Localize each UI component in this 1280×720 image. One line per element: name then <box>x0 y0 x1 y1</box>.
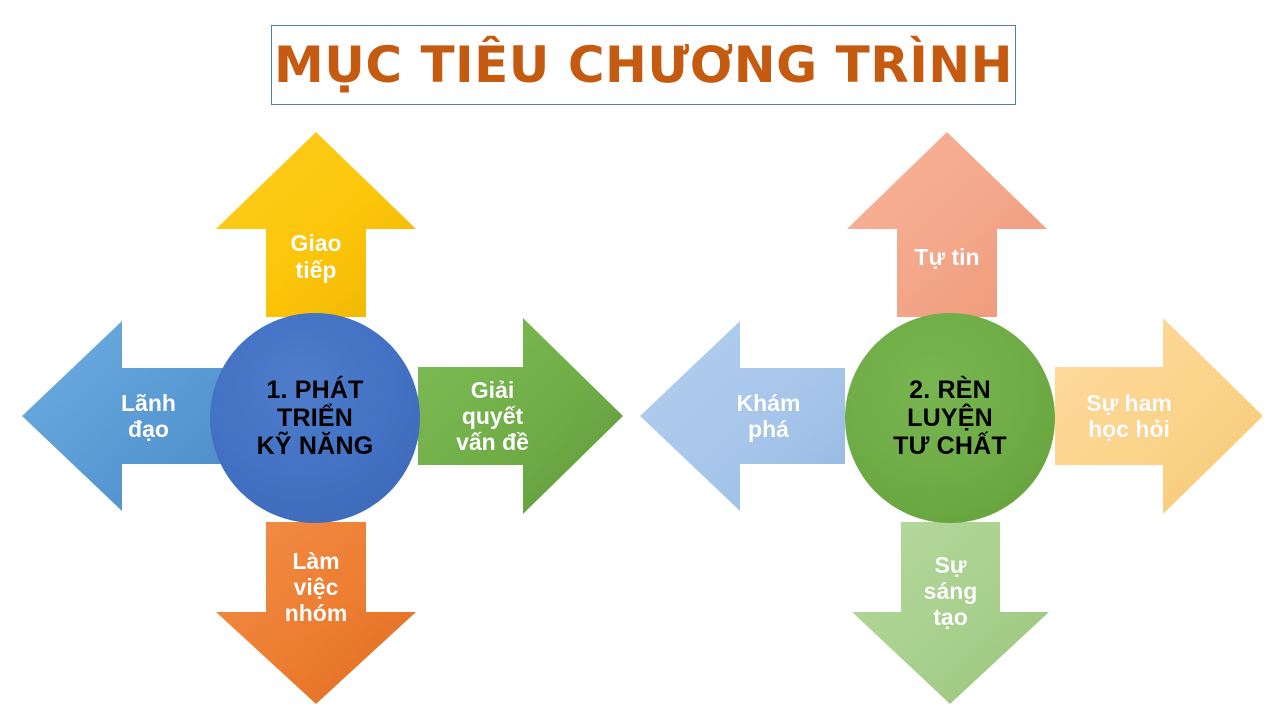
arrow-up-giao-tiep[interactable]: Giao tiếp <box>216 132 416 317</box>
arrow-right-su-ham-hoc-hoi[interactable]: Sự ham học hỏi <box>1055 318 1263 514</box>
arrow-down-lam-viec-nhom[interactable]: Làm việc nhóm <box>216 522 416 704</box>
arrow-left-icon <box>640 321 845 511</box>
arrow-up-icon <box>847 132 1047 317</box>
arrow-left-kham-pha[interactable]: Khám phá <box>640 321 845 511</box>
arrow-up-icon <box>216 132 416 317</box>
center-circle-label: 2. RÈN LUYỆN TƯ CHẤT <box>893 376 1007 460</box>
arrow-left-icon <box>22 321 227 511</box>
slide-canvas: MỤC TIÊU CHƯƠNG TRÌNH Giao tiếp <box>0 0 1280 720</box>
center-circle-ren-luyen-tu-chat[interactable]: 2. RÈN LUYỆN TƯ CHẤT <box>845 313 1055 523</box>
center-circle-label: 1. PHÁT TRIỂN KỸ NĂNG <box>257 376 374 460</box>
arrow-down-icon <box>852 522 1049 704</box>
arrow-right-icon <box>1055 318 1263 514</box>
arrow-down-icon <box>216 522 416 704</box>
arrow-left-lanh-dao[interactable]: Lãnh đạo <box>22 321 227 511</box>
arrow-right-icon <box>418 318 623 514</box>
arrow-down-su-sang-tao[interactable]: Sự sáng tạo <box>852 522 1049 704</box>
diagram-group-skills: Giao tiếp Lãnh đạo <box>0 0 640 720</box>
center-circle-phat-trien-ky-nang[interactable]: 1. PHÁT TRIỂN KỸ NĂNG <box>210 313 420 523</box>
arrow-right-giai-quyet-van-de[interactable]: Giải quyết vấn đề <box>418 318 623 514</box>
arrow-up-tu-tin[interactable]: Tự tin <box>847 132 1047 317</box>
diagram-group-qualities: Tự tin Khám phá <box>640 0 1280 720</box>
